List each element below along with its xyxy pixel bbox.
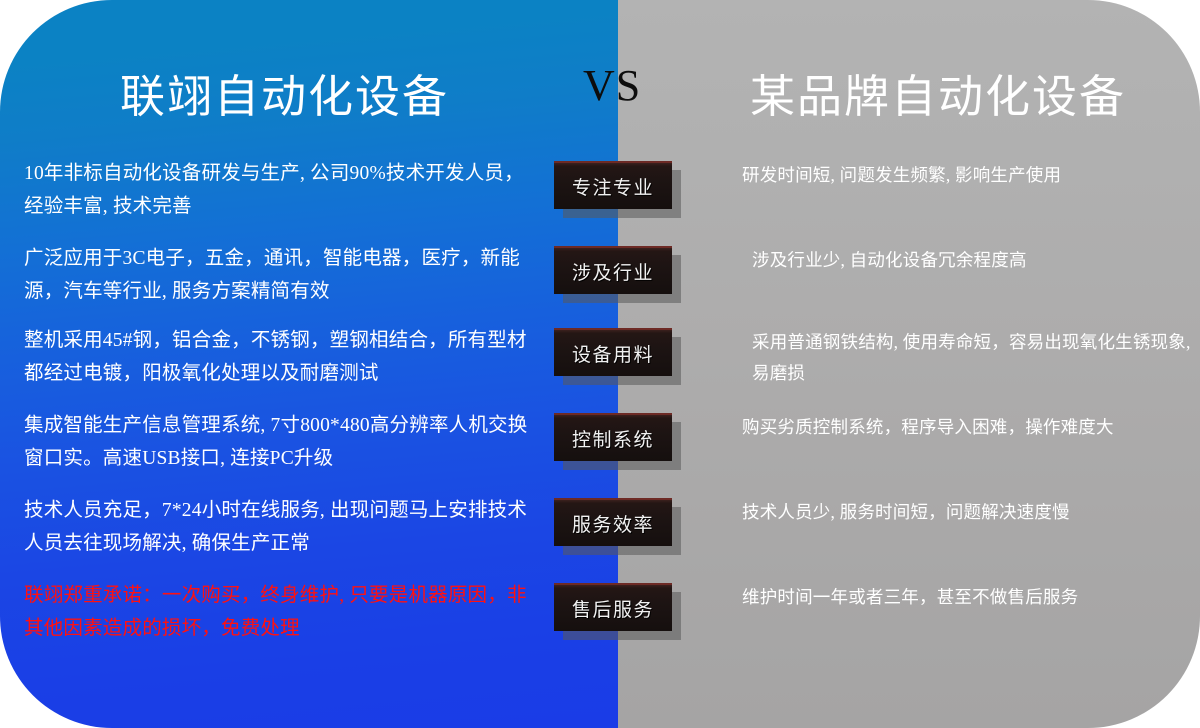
con-text: 涉及行业少, 自动化设备冗余程度高 [752, 245, 1200, 276]
comparison-row: 技术人员充足，7*24小时在线服务, 出现问题马上安排技术人员去往现场解决, 确… [0, 494, 1200, 580]
comparison-row: 集成智能生产信息管理系统, 7寸800*480高分辨率人机交换窗口实。高速USB… [0, 409, 1200, 495]
criteria-badge-label: 售后服务 [572, 595, 654, 622]
criteria-badge[interactable]: 专注专业 [554, 161, 672, 209]
criteria-badge-label: 服务效率 [572, 510, 654, 537]
comparison-rows: 10年非标自动化设备研发与生产, 公司90%技术开发人员，经验丰富, 技术完善专… [0, 0, 1200, 728]
con-text: 购买劣质控制系统，程序导入困难，操作难度大 [742, 412, 1194, 443]
criteria-badge-label: 涉及行业 [572, 258, 654, 285]
comparison-row: 整机采用45#钢，铝合金，不锈钢，塑钢相结合，所有型材都经过电镀，阳极氧化处理以… [0, 324, 1200, 410]
pro-text: 技术人员充足，7*24小时在线服务, 出现问题马上安排技术人员去往现场解决, 确… [24, 494, 534, 560]
criteria-badge[interactable]: 控制系统 [554, 413, 672, 461]
comparison-row: 广泛应用于3C电子，五金，通讯，智能电器，医疗，新能源，汽车等行业, 服务方案精… [0, 242, 1200, 328]
con-text: 维护时间一年或者三年，甚至不做售后服务 [742, 582, 1194, 613]
pro-text: 联翊郑重承诺：一次购买，终身维护, 只要是机器原因，非其他因素造成的损坏，免费处… [24, 579, 534, 645]
con-text: 研发时间短, 问题发生频繁, 影响生产使用 [742, 160, 1194, 191]
comparison-row: 10年非标自动化设备研发与生产, 公司90%技术开发人员，经验丰富, 技术完善专… [0, 157, 1200, 243]
con-text: 技术人员少, 服务时间短，问题解决速度慢 [742, 497, 1194, 528]
pro-text: 整机采用45#钢，铝合金，不锈钢，塑钢相结合，所有型材都经过电镀，阳极氧化处理以… [24, 324, 534, 390]
criteria-badge[interactable]: 售后服务 [554, 583, 672, 631]
criteria-badge[interactable]: 服务效率 [554, 498, 672, 546]
criteria-badge[interactable]: 涉及行业 [554, 246, 672, 294]
pro-text: 集成智能生产信息管理系统, 7寸800*480高分辨率人机交换窗口实。高速USB… [24, 409, 534, 475]
criteria-badge-label: 控制系统 [572, 425, 654, 452]
con-text: 采用普通钢铁结构, 使用寿命短，容易出现氧化生锈现象, 易磨损 [752, 327, 1200, 389]
comparison-row: 联翊郑重承诺：一次购买，终身维护, 只要是机器原因，非其他因素造成的损坏，免费处… [0, 579, 1200, 665]
pro-text: 广泛应用于3C电子，五金，通讯，智能电器，医疗，新能源，汽车等行业, 服务方案精… [24, 242, 534, 308]
comparison-infographic: 联翊自动化设备 VS 某品牌自动化设备 10年非标自动化设备研发与生产, 公司9… [0, 0, 1200, 728]
criteria-badge-label: 设备用料 [572, 340, 654, 367]
pro-text: 10年非标自动化设备研发与生产, 公司90%技术开发人员，经验丰富, 技术完善 [24, 157, 534, 223]
criteria-badge-label: 专注专业 [572, 173, 654, 200]
criteria-badge[interactable]: 设备用料 [554, 328, 672, 376]
